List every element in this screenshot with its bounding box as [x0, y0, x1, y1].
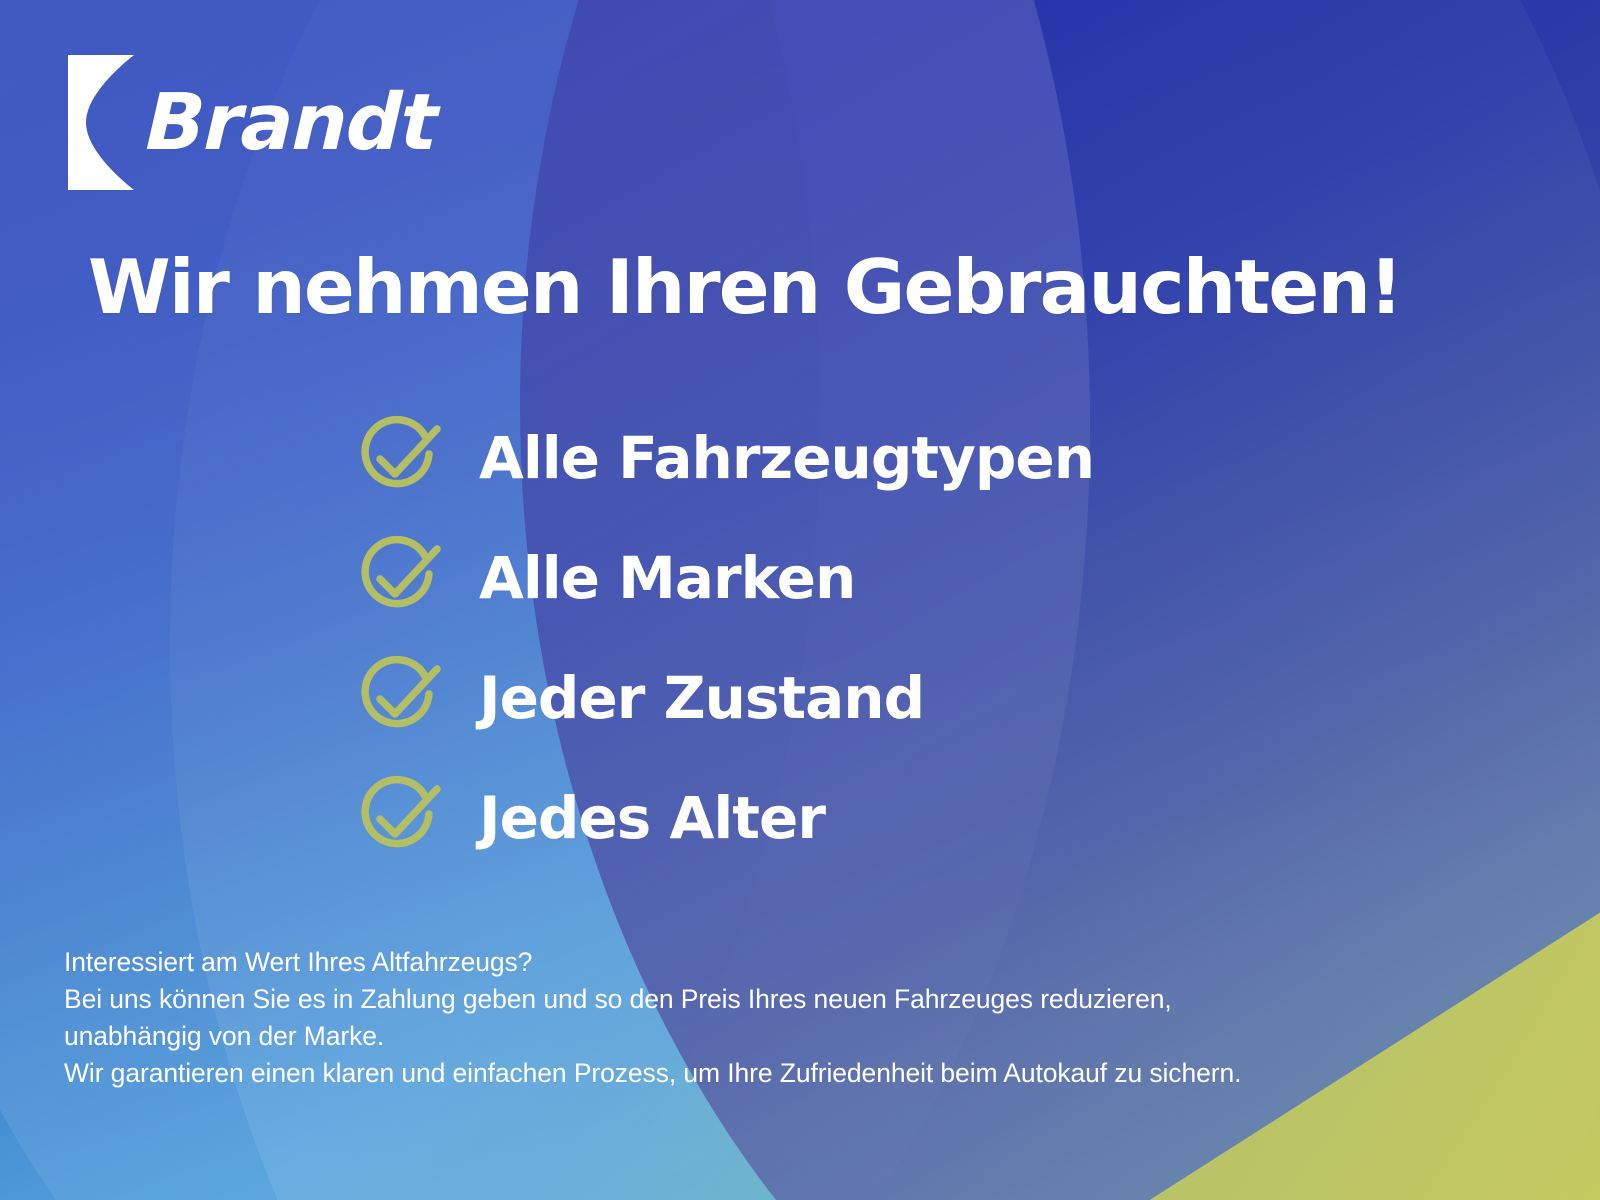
bracket-crescent-mark-icon: [68, 55, 140, 190]
feature-item: Jeder Zustand: [355, 638, 1094, 758]
footer-line-1: Interessiert am Wert Ihres Altfahrzeugs?: [64, 944, 1504, 981]
page-title: Wir nehmen Ihren Gebrauchten!: [88, 248, 1401, 327]
feature-label: Jedes Alter: [479, 789, 825, 847]
feature-list: Alle Fahrzeugtypen Alle Marken: [355, 398, 1094, 878]
footer-paragraph: Interessiert am Wert Ihres Altfahrzeugs?…: [64, 944, 1504, 1092]
feature-label: Alle Fahrzeugtypen: [479, 429, 1094, 487]
feature-item: Alle Fahrzeugtypen: [355, 398, 1094, 518]
check-circle-icon: [355, 654, 443, 742]
check-circle-icon: [355, 414, 443, 502]
poster-content: Brandt Wir nehmen Ihren Gebrauchten! All…: [0, 0, 1600, 1200]
promo-poster: Brandt Wir nehmen Ihren Gebrauchten! All…: [0, 0, 1600, 1200]
brand-logo: Brandt: [68, 55, 436, 190]
feature-label: Alle Marken: [479, 549, 855, 607]
feature-label: Jeder Zustand: [479, 669, 924, 727]
feature-item: Alle Marken: [355, 518, 1094, 638]
footer-line-3: unabhängig von der Marke.: [64, 1018, 1504, 1055]
brand-name: Brandt: [145, 84, 438, 162]
feature-item: Jedes Alter: [355, 758, 1094, 878]
footer-line-2: Bei uns können Sie es in Zahlung geben u…: [64, 981, 1504, 1018]
check-circle-icon: [355, 774, 443, 862]
check-circle-icon: [355, 534, 443, 622]
footer-line-4: Wir garantieren einen klaren und einfach…: [64, 1055, 1504, 1092]
